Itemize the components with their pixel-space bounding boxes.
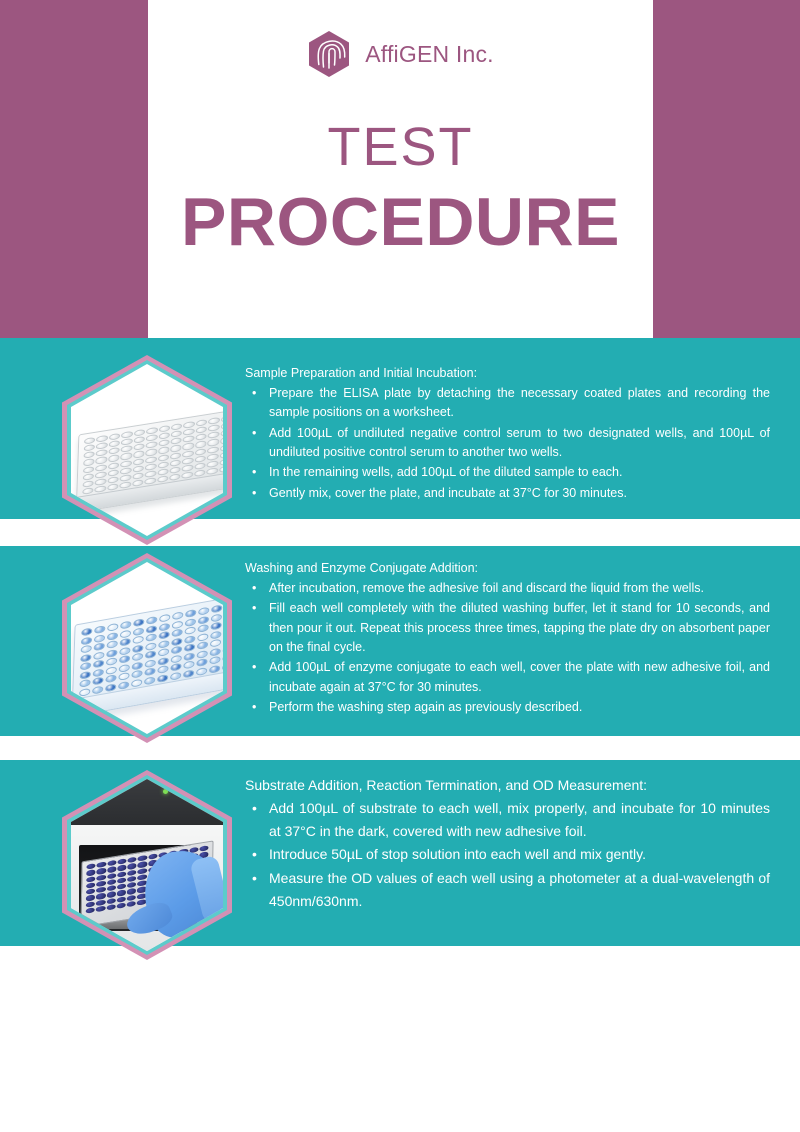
- section-2-heading: Washing and Enzyme Conjugate Addition:: [245, 559, 770, 578]
- list-item: Add 100µL of enzyme conjugate to each we…: [245, 658, 770, 697]
- section-1-bullet-list: Prepare the ELISA plate by detaching the…: [245, 384, 770, 503]
- section-2-bullet-list: After incubation, remove the adhesive fo…: [245, 579, 770, 718]
- section-1-image-badge: [62, 355, 232, 545]
- section-2-image-badge: [62, 553, 232, 743]
- brand-logo: AffiGEN Inc.: [307, 30, 494, 78]
- list-item: After incubation, remove the adhesive fo…: [245, 579, 770, 598]
- list-item: Perform the washing step again as previo…: [245, 698, 770, 717]
- page-header: AffiGEN Inc. TEST PROCEDURE: [148, 0, 653, 338]
- test-procedure-page: AffiGEN Inc. TEST PROCEDURE Sample Prepa…: [0, 0, 800, 1132]
- section-3-image-badge: [62, 770, 232, 960]
- header-band-right: [653, 0, 800, 338]
- section-3-bullet-list: Add 100µL of substrate to each well, mix…: [245, 797, 770, 912]
- clear-96-well-plate: [76, 409, 223, 513]
- section-3-heading: Substrate Addition, Reaction Termination…: [245, 775, 770, 796]
- fingerprint-hexagon-icon: [307, 30, 351, 78]
- section-3-text: Substrate Addition, Reaction Termination…: [245, 775, 770, 913]
- blue-96-well-plate: [71, 595, 223, 717]
- section-2-text: Washing and Enzyme Conjugate Addition: A…: [245, 559, 770, 718]
- list-item: Add 100µL of substrate to each well, mix…: [245, 797, 770, 842]
- section-1-text: Sample Preparation and Initial Incubatio…: [245, 364, 770, 504]
- list-item: Gently mix, cover the plate, and incubat…: [245, 484, 770, 503]
- list-item: Fill each well completely with the dilut…: [245, 599, 770, 657]
- list-item: Prepare the ELISA plate by detaching the…: [245, 384, 770, 423]
- brand-name: AffiGEN Inc.: [365, 41, 494, 68]
- section-1-heading: Sample Preparation and Initial Incubatio…: [245, 364, 770, 383]
- list-item: Add 100µL of undiluted negative control …: [245, 424, 770, 463]
- page-title-line2: PROCEDURE: [181, 188, 620, 256]
- list-item: Measure the OD values of each well using…: [245, 867, 770, 912]
- list-item: Introduce 50µL of stop solution into eac…: [245, 843, 770, 866]
- list-item: In the remaining wells, add 100µL of the…: [245, 463, 770, 482]
- page-title-line1: TEST: [327, 120, 473, 174]
